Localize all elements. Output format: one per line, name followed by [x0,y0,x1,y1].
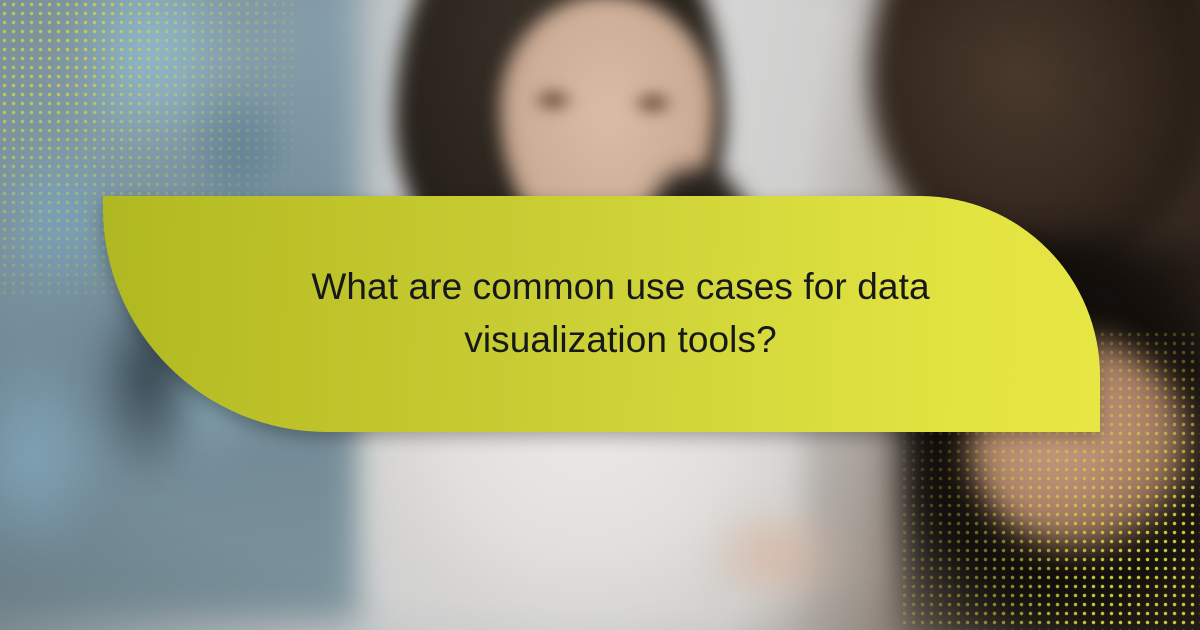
og-question-card: What are common use cases for data visua… [0,0,1200,630]
question-banner: What are common use cases for data visua… [103,196,1100,432]
question-title: What are common use cases for data visua… [222,261,982,366]
